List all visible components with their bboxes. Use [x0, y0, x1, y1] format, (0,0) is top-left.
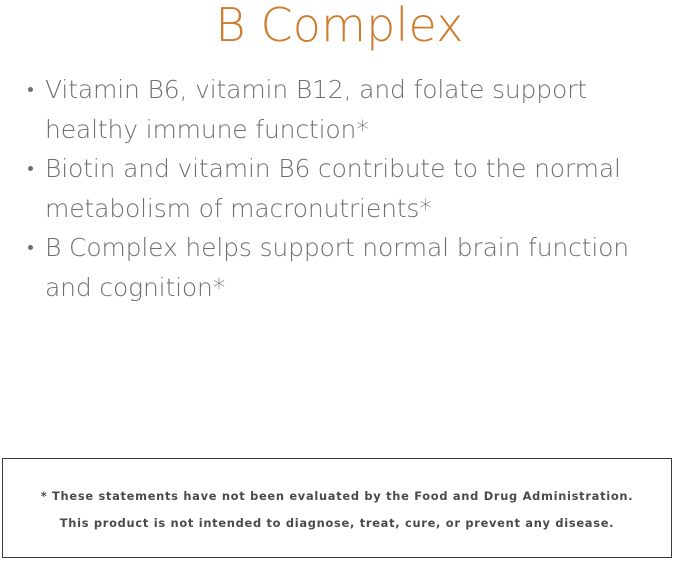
fda-disclaimer-box: * These statements have not been evaluat…	[2, 458, 672, 558]
dot-bullet-icon	[28, 87, 33, 92]
benefit-list: Vitamin B6, vitamin B12, and folate supp…	[26, 70, 658, 307]
dot-bullet-icon	[28, 245, 33, 250]
fda-disclaimer-text: * These statements have not been evaluat…	[3, 483, 671, 537]
list-item: Vitamin B6, vitamin B12, and folate supp…	[26, 70, 658, 149]
list-item: B Complex helps support normal brain fun…	[26, 228, 658, 307]
fda-disclaimer-line-1: * These statements have not been evaluat…	[3, 483, 671, 510]
product-description-panel: B Complex Vitamin B6, vitamin B12, and f…	[0, 0, 679, 566]
list-item: Biotin and vitamin B6 contribute to the …	[26, 149, 658, 228]
fda-disclaimer-line-2: This product is not intended to diagnose…	[3, 510, 671, 537]
page-title: B Complex	[0, 0, 679, 51]
benefit-text: B Complex helps support normal brain fun…	[45, 233, 629, 302]
benefit-text: Biotin and vitamin B6 contribute to the …	[45, 154, 621, 223]
dot-bullet-icon	[28, 166, 33, 171]
benefit-text: Vitamin B6, vitamin B12, and folate supp…	[45, 75, 587, 144]
